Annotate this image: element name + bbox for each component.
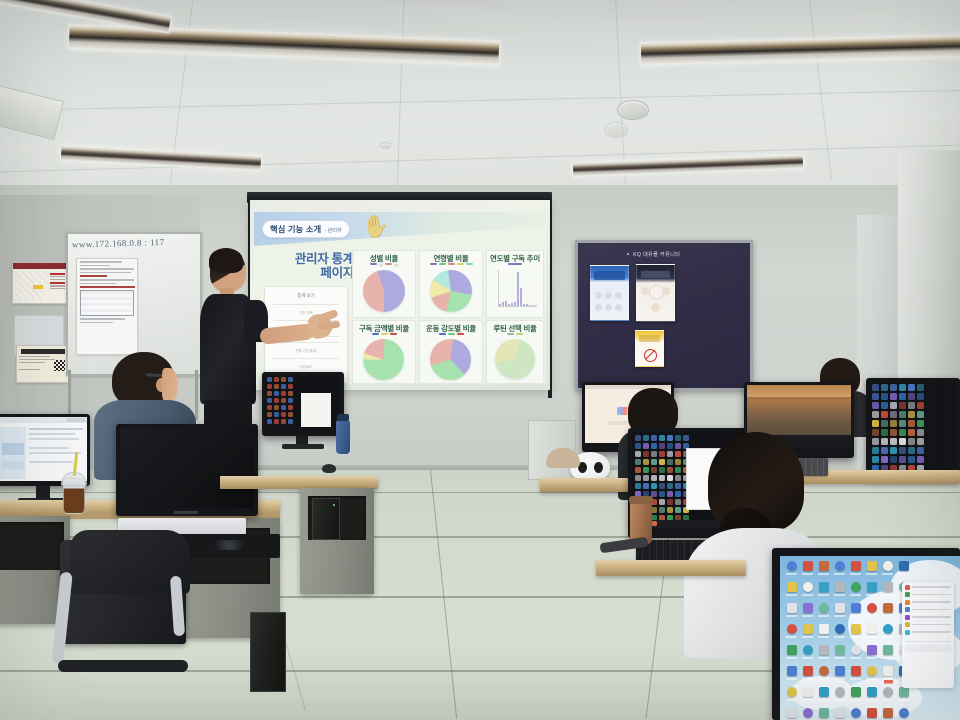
ceiling-light-fixture [572, 154, 804, 177]
desktop-icon[interactable] [890, 438, 897, 445]
chart-card-routine-choice: 루틴 선택 비율 [486, 320, 544, 384]
poster-body [13, 269, 69, 301]
desktop-icon[interactable] [800, 645, 815, 665]
bar [529, 305, 531, 306]
monitor-left-center [116, 424, 258, 516]
desktop-icon[interactable] [832, 582, 847, 602]
desktop-icon[interactable] [675, 499, 681, 505]
panda-eye-patch [594, 462, 603, 473]
desktop-icon[interactable] [917, 420, 924, 427]
monitor-brand-label [174, 511, 198, 514]
desktop-icon[interactable] [864, 582, 879, 602]
desktop-icon[interactable] [872, 402, 879, 409]
desktop-icon[interactable] [274, 398, 279, 403]
bar [508, 304, 510, 306]
desktop-icon[interactable] [864, 645, 879, 665]
desktop-icon[interactable] [880, 666, 895, 686]
ceiling-speaker [617, 100, 649, 120]
desktop-icon[interactable] [917, 429, 924, 436]
desktop-icon[interactable] [908, 438, 915, 445]
desktop-icon[interactable] [880, 708, 895, 720]
desktop-icon[interactable] [881, 411, 888, 418]
monitor-screen-windows-desktop[interactable] [780, 556, 960, 720]
desktop-icon[interactable] [667, 467, 673, 473]
desktop-icon[interactable] [784, 708, 799, 720]
hand-click-icon: ✋ [360, 212, 391, 242]
desktop-icon[interactable] [816, 603, 831, 623]
projection-screen: ✋ 핵심 기능 소개 - 관리자 관리자 통계 페이지 통계 보기 기간 선택 … [250, 200, 550, 390]
desktop-icon[interactable] [899, 402, 906, 409]
desktop-icon[interactable] [917, 393, 924, 400]
slide-title: 핵심 기능 소개 [270, 223, 321, 235]
desktop-icon[interactable] [908, 402, 915, 409]
desktop-icon[interactable] [832, 708, 847, 720]
desktop-icon[interactable] [880, 645, 895, 665]
desktop-icon[interactable] [675, 451, 681, 457]
desktop-icon[interactable] [848, 582, 863, 602]
desktop-icon[interactable] [816, 708, 831, 720]
desktop-icon[interactable] [890, 420, 897, 427]
desktop-icon[interactable] [848, 645, 863, 665]
desktop-icon[interactable] [288, 412, 293, 417]
desktop-icon[interactable] [832, 645, 847, 665]
desktop-icon[interactable] [281, 391, 286, 396]
desktop-icon[interactable] [917, 438, 924, 445]
chair-base [58, 660, 188, 672]
desktop-icon[interactable] [864, 708, 879, 720]
desktop-icon[interactable] [890, 456, 897, 463]
desktop-icon[interactable] [659, 491, 665, 497]
desktop-icon[interactable] [908, 456, 915, 463]
desktop-icon[interactable] [872, 384, 879, 391]
no-smoking-poster [635, 330, 664, 367]
desktop-icon[interactable] [848, 687, 863, 707]
desktop-pc-tower [312, 498, 340, 540]
desktop-icon[interactable] [667, 491, 673, 497]
desktop-icon[interactable] [267, 377, 272, 382]
bar [523, 304, 525, 306]
desktop-icon[interactable] [288, 405, 293, 410]
desktop-icon[interactable] [675, 491, 681, 497]
desktop-icon[interactable] [800, 666, 815, 686]
desktop-icon[interactable] [659, 451, 665, 457]
ceiling [0, 0, 960, 215]
classroom-photo: www.172.168.0.8 : 117 ✋ 핵심 기능 소개 - 관리자 관… [0, 0, 960, 720]
desktop-icon[interactable] [784, 624, 799, 644]
desktop-icon[interactable] [659, 507, 665, 513]
desktop-icon[interactable] [872, 456, 879, 463]
desktop-icon[interactable] [643, 459, 649, 465]
desktop-icon[interactable] [832, 603, 847, 623]
desktop-icon[interactable] [643, 443, 649, 449]
bar [517, 272, 519, 306]
pie-chart [430, 270, 472, 312]
desktop-icon[interactable] [281, 384, 286, 389]
whiteboard-handwriting: www.172.168.0.8 : 117 [72, 236, 182, 255]
desktop-icon[interactable] [816, 666, 831, 686]
desktop-icon[interactable] [659, 443, 665, 449]
ceiling-sensor [380, 142, 391, 149]
desktop-icon[interactable] [667, 483, 673, 489]
desktop-icon[interactable] [651, 475, 657, 481]
desktop-icon[interactable] [675, 475, 681, 481]
mouse-left-back [322, 464, 336, 473]
bar [499, 304, 501, 306]
desktop-icon[interactable] [881, 393, 888, 400]
desktop-icon[interactable] [281, 412, 286, 417]
chart-legend [353, 333, 415, 335]
desktop-icon[interactable] [784, 666, 799, 686]
desk-foreground-right [596, 560, 746, 576]
desktop-icon[interactable] [848, 708, 863, 720]
desktop-icon[interactable] [872, 420, 879, 427]
desktop-icon[interactable] [881, 420, 888, 427]
desktop-icon[interactable] [872, 438, 879, 445]
desktop-icon[interactable] [864, 561, 879, 581]
desktop-icon[interactable] [274, 412, 279, 417]
desktop-icon[interactable] [667, 507, 673, 513]
safety-notice-poster [16, 345, 70, 383]
whiteboard-posted-document [76, 258, 138, 355]
no-smoking-icon [644, 349, 657, 362]
desktop-icon[interactable] [881, 429, 888, 436]
desktop-icon[interactable] [667, 443, 673, 449]
desktop-icon[interactable] [890, 429, 897, 436]
desktop-icon[interactable] [880, 561, 895, 581]
safety-poster-dark [636, 264, 675, 322]
desktop-icon[interactable] [816, 561, 831, 581]
desktop-icon[interactable] [643, 435, 649, 441]
pie-chart [363, 339, 404, 380]
slide-heading-line-1: 관리자 통계 [262, 252, 354, 266]
desktop-icon[interactable] [917, 402, 924, 409]
safety-poster-blue [590, 265, 629, 321]
desktop-icon[interactable] [848, 666, 863, 686]
thumb-title: 통계 보기 [265, 293, 347, 299]
desktop-icon[interactable] [659, 499, 665, 505]
desktop-icon[interactable] [667, 435, 673, 441]
desktop-icon[interactable] [635, 467, 641, 473]
monitor-screen-desktop [869, 381, 957, 473]
chart-legend [487, 333, 543, 335]
desktop-icon[interactable] [816, 582, 831, 602]
desktop-icon[interactable] [274, 384, 279, 389]
desktop-icon[interactable] [643, 475, 649, 481]
desktop-icon[interactable] [643, 467, 649, 473]
desktop-icon[interactable] [274, 405, 279, 410]
chart-card-workout-intensity: 운동 강도별 비율 [419, 320, 483, 384]
desktop-icon[interactable] [800, 582, 815, 602]
desktop-icon[interactable] [784, 645, 799, 665]
monitor-left-back [262, 372, 344, 436]
desktop-icon[interactable] [274, 377, 279, 382]
ceiling-light-fixture [68, 24, 501, 67]
desktop-icon[interactable] [899, 456, 906, 463]
desktop-icon[interactable] [864, 666, 879, 686]
desktop-icon[interactable] [274, 391, 279, 396]
evacuation-map-poster [12, 262, 70, 304]
desktop-icon[interactable] [643, 483, 649, 489]
desktop-icon[interactable] [881, 447, 888, 454]
desktop-icon[interactable] [288, 377, 293, 382]
desktop-icon[interactable] [896, 708, 911, 720]
desktop-icon-grid[interactable] [784, 561, 911, 720]
desktop-icon[interactable] [667, 459, 673, 465]
desktop-icon[interactable] [899, 393, 906, 400]
pie-chart [495, 339, 535, 379]
mousepad-logo [208, 540, 250, 550]
desktop-icon[interactable] [816, 624, 831, 644]
desktop-icon[interactable] [908, 384, 915, 391]
desktop-icon[interactable] [800, 687, 815, 707]
desktop-icon[interactable] [635, 483, 641, 489]
desktop-icon[interactable] [267, 384, 272, 389]
slide-title-pill: 핵심 기능 소개 - 관리자 [262, 220, 350, 238]
desktop-icon[interactable] [651, 459, 657, 465]
desktop-icon[interactable] [899, 384, 906, 391]
bar [511, 303, 513, 306]
monitor-right-back-icons [866, 378, 960, 478]
desktop-icon[interactable] [899, 411, 906, 418]
desktop-icon[interactable] [899, 429, 906, 436]
desktop-icon[interactable] [659, 475, 665, 481]
bar [532, 305, 534, 306]
desktop-icon[interactable] [675, 459, 681, 465]
desktop-icon[interactable] [880, 582, 895, 602]
desktop-icon[interactable] [848, 561, 863, 581]
pc-power-led [333, 504, 335, 506]
cap-beside-helmet [546, 448, 580, 468]
desktop-icon[interactable] [848, 603, 863, 623]
desktop-icon[interactable] [659, 467, 665, 473]
desktop-icon[interactable] [288, 384, 293, 389]
ceiling-vent [0, 84, 64, 140]
presentation-slide: ✋ 핵심 기능 소개 - 관리자 관리자 통계 페이지 통계 보기 기간 선택 … [254, 212, 546, 384]
pedestal-slot [0, 522, 64, 570]
desktop-icon[interactable] [635, 443, 641, 449]
note-window [301, 393, 331, 427]
monitor-base [282, 444, 324, 449]
bulletin-board-logo: ◔ KQ 대유플 커뮤니티 [625, 248, 699, 260]
desktop-icon[interactable] [659, 459, 665, 465]
desktop-icon[interactable] [635, 459, 641, 465]
desktop-icon[interactable] [872, 429, 879, 436]
ceiling-sprinkler [604, 122, 628, 138]
desktop-icon[interactable] [800, 603, 815, 623]
desktop-icon[interactable] [635, 435, 641, 441]
desktop-icon[interactable] [872, 447, 879, 454]
desktop-icon[interactable] [267, 391, 272, 396]
thumb-sub-3: 전체 기간 통계 [265, 348, 347, 353]
chart-legend: 여성 남성 [353, 263, 415, 267]
logo-text: KQ 대유플 커뮤니티 [633, 251, 680, 258]
chart-x-axis [498, 306, 536, 307]
desktop-icon[interactable] [917, 411, 924, 418]
chart-card-subscription-price: 구독 금액별 비율 [352, 320, 416, 384]
chart-legend [420, 333, 482, 335]
desktop-icon[interactable] [881, 438, 888, 445]
desktop-icon[interactable] [917, 384, 924, 391]
desktop-icon[interactable] [899, 447, 906, 454]
desktop-icon[interactable] [784, 582, 799, 602]
desktop-icon[interactable] [899, 420, 906, 427]
desktop-icon[interactable] [651, 435, 657, 441]
slide-subtitle: - 관리자 [324, 227, 342, 234]
desktop-icon[interactable] [890, 402, 897, 409]
slide-main-heading: 관리자 통계 페이지 [262, 252, 354, 280]
logo-mark: ◔ [625, 250, 630, 259]
desktop-icon[interactable] [675, 443, 681, 449]
desktop-icon[interactable] [675, 467, 681, 473]
chart-card-gender: 성별 비율 여성 남성 [352, 250, 416, 318]
desktop-icon[interactable] [784, 687, 799, 707]
desktop-icon[interactable] [281, 405, 286, 410]
desktop-icon[interactable] [288, 391, 293, 396]
desktop-icon[interactable] [667, 499, 673, 505]
desktop-icon[interactable] [832, 687, 847, 707]
desktop-icon[interactable] [281, 377, 286, 382]
desktop-icon-grid[interactable] [872, 384, 925, 473]
chart-legend [487, 263, 543, 265]
desktop-icon[interactable] [896, 561, 911, 581]
desktop-icon[interactable] [675, 483, 681, 489]
desktop-icon[interactable] [635, 475, 641, 481]
desktop-icon[interactable] [651, 443, 657, 449]
desktop-icon[interactable] [872, 411, 879, 418]
desktop-icon[interactable] [288, 398, 293, 403]
desktop-icon[interactable] [267, 405, 272, 410]
chart-card-yearly-subscriptions: 연도별 구독 추이 [486, 250, 544, 318]
chart-legend [420, 263, 482, 265]
desktop-icon[interactable] [864, 624, 879, 644]
desktop-icon[interactable] [267, 412, 272, 417]
pie-chart [430, 339, 471, 380]
desktop-icon[interactable] [917, 447, 924, 454]
desktop-icon[interactable] [667, 451, 673, 457]
desktop-icon[interactable] [832, 624, 847, 644]
desktop-icon[interactable] [659, 483, 665, 489]
desktop-icon[interactable] [908, 420, 915, 427]
desktop-icon[interactable] [908, 447, 915, 454]
whiteboard-stand-leg [195, 370, 198, 420]
desktop-icon[interactable] [890, 393, 897, 400]
desktop-icon[interactable] [667, 475, 673, 481]
desktop-icon[interactable] [267, 398, 272, 403]
bar [505, 301, 507, 306]
desktop-icon[interactable] [832, 561, 847, 581]
desktop-icon[interactable] [267, 419, 272, 424]
desktop-icon[interactable] [832, 666, 847, 686]
desktop-icon-grid [267, 377, 294, 425]
desktop-icon[interactable] [872, 393, 879, 400]
desktop-icon[interactable] [683, 435, 689, 441]
thumb-sub-4: 다운로드 [265, 364, 347, 369]
desktop-icon[interactable] [881, 384, 888, 391]
desktop-icon[interactable] [800, 708, 815, 720]
bar [535, 305, 537, 306]
desktop-icon[interactable] [917, 456, 924, 463]
desktop-icon[interactable] [675, 435, 681, 441]
desktop-icon[interactable] [864, 603, 879, 623]
monitor-screen [265, 375, 341, 431]
desktop-icon[interactable] [890, 447, 897, 454]
desktop-icon[interactable] [890, 411, 897, 418]
pie-chart [363, 270, 405, 312]
presenter-hair [209, 248, 243, 273]
notification-panel[interactable] [902, 582, 954, 688]
desktop-icon[interactable] [281, 419, 286, 424]
desktop-icon[interactable] [908, 429, 915, 436]
chart-card-age: 연령별 비율 [419, 250, 483, 318]
desktop-icon[interactable] [908, 411, 915, 418]
bar [514, 302, 516, 306]
desktop-icon[interactable] [890, 384, 897, 391]
slide-heading-line-2: 페이지 [262, 266, 354, 280]
desktop-icon[interactable] [288, 419, 293, 424]
desktop-icon[interactable] [800, 561, 815, 581]
desktop-icon[interactable] [659, 435, 665, 441]
bar [526, 304, 528, 306]
desktop-icon[interactable] [880, 624, 895, 644]
student-face [162, 368, 178, 402]
desktop-icon[interactable] [675, 507, 681, 513]
desktop-icon[interactable] [651, 467, 657, 473]
bar-chart [499, 270, 537, 306]
desktop-icon[interactable] [281, 398, 286, 403]
desktop-icon[interactable] [881, 456, 888, 463]
desktop-icon[interactable] [643, 451, 649, 457]
desktop-icon[interactable] [651, 483, 657, 489]
desktop-icon[interactable] [880, 603, 895, 623]
monitor-foreground-right[interactable] [772, 548, 960, 720]
monitor-screen-off [120, 428, 254, 508]
desktop-icon[interactable] [848, 624, 863, 644]
desktop-icon[interactable] [908, 393, 915, 400]
desktop-icon[interactable] [784, 561, 799, 581]
desktop-icon[interactable] [899, 438, 906, 445]
desktop-icon[interactable] [784, 603, 799, 623]
water-bottle [336, 420, 350, 454]
bar [502, 302, 504, 306]
bottle-cap [337, 414, 349, 421]
desktop-icon[interactable] [800, 624, 815, 644]
desktop-icon[interactable] [896, 687, 911, 707]
desktop-icon[interactable] [881, 402, 888, 409]
desktop-icon[interactable] [635, 451, 641, 457]
ceiling-light-fixture [640, 34, 960, 66]
desktop-icon[interactable] [651, 451, 657, 457]
tumbler-lid [629, 496, 653, 504]
desktop-icon[interactable] [816, 645, 831, 665]
desktop-icon[interactable] [880, 687, 895, 707]
desktop-icon[interactable] [816, 687, 831, 707]
desktop-pc-tower [250, 612, 286, 692]
qr-code-icon [54, 360, 65, 371]
desktop-icon[interactable] [274, 419, 279, 424]
bar [520, 288, 522, 306]
desktop-icon[interactable] [864, 687, 879, 707]
